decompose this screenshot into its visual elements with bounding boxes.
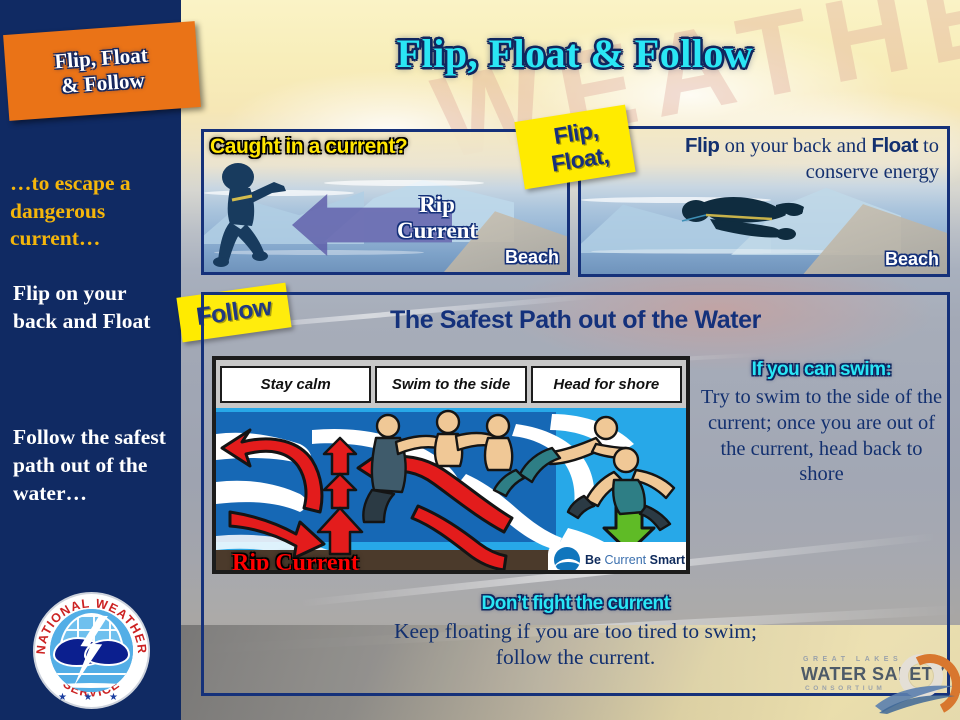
caption-swim-to-side: Swim to the side [375,366,526,403]
infographic-canvas: WEATHER …to escape a dangerous current… … [0,0,960,720]
rip-current-illustration: Stay calm Swim to the side Head for shor… [212,356,690,574]
illustration-water: Rip Current Be Current Smart [216,408,686,574]
sidebar-bullet-flip-float: Flip on your back and Float [13,280,173,336]
if-you-can-swim-body: Try to swim to the side of the current; … [696,385,947,488]
glwsc-top-text: GREAT LAKES [803,656,902,663]
be-current-smart-text: Be Current Smart [585,553,685,567]
panel-b-flip-word: Flip [685,134,719,157]
wave-circle-icon [554,547,580,573]
bcs-current: Current [604,553,649,567]
if-you-can-swim-heading: If you can swim: [696,359,947,381]
rip-current-label: Rip Current [352,192,522,244]
be-current-smart-logo: Be Current Smart [548,542,686,574]
wave-crest [324,180,484,186]
bcs-smart: Smart [650,553,685,567]
rip-label-line1: Rip [352,192,522,218]
panel-b-float-word: Float [871,134,917,157]
panel-b-text-2: on your back and [719,135,871,157]
rip-current-illustration-label: Rip Current [232,550,359,574]
beach-label: Beach [885,249,939,270]
nws-logo: NATIONAL WEATHER SERVICE ★ ★ ★ [33,592,150,709]
wave-crest [591,249,841,254]
caption-stay-calm: Stay calm [220,366,371,403]
bottom-body-line1: Keep floating if you are too tired to sw… [204,618,947,644]
wave-swoosh-icon [873,680,955,714]
orange-tag-line2: & Follow [60,68,145,98]
panel-b-text: Flip on your back and Float to conserve … [639,133,939,186]
nws-emblem [50,609,133,692]
rip-label-line2: Current [352,218,522,244]
panel-flip-and-float: Flip on your back and Float to conserve … [578,126,950,277]
bcs-be: Be [585,553,604,567]
panel-safest-path: The Safest Path out of the Water Stay ca… [201,292,950,696]
sidebar-intro-text: …to escape a dangerous current… [10,170,175,253]
orange-title-tag-text: Flip, Float & Follow [3,21,201,121]
panel-c-right-column: If you can swim: Try to swim to the side… [696,359,947,488]
dont-fight-current-heading: Don’t fight the current [204,593,947,615]
panel-c-heading: The Safest Path out of the Water [204,306,947,335]
nws-stars: ★ ★ ★ [33,692,150,703]
nws-wave [56,683,126,688]
beach-label: Beach [505,247,559,268]
orange-title-tag: Flip, Float & Follow [3,21,201,121]
sidebar-bullet-follow: Follow the safest path out of the water… [13,424,173,508]
great-lakes-water-safety-logo: GREAT LAKES WATER SAFETY CONSORTIUM [795,654,955,714]
illustration-caption-bar: Stay calm Swim to the side Head for shor… [216,360,686,408]
page-title: Flip, Float & Follow [190,30,960,77]
struggling-swimmer-silhouette [212,160,298,268]
panel-caught-in-current: Rip Current Caught in a current? Beach [201,129,570,275]
floating-swimmer-silhouette [676,187,821,249]
caption-head-for-shore: Head for shore [531,366,682,403]
panel-a-heading: Caught in a current? [210,135,407,159]
